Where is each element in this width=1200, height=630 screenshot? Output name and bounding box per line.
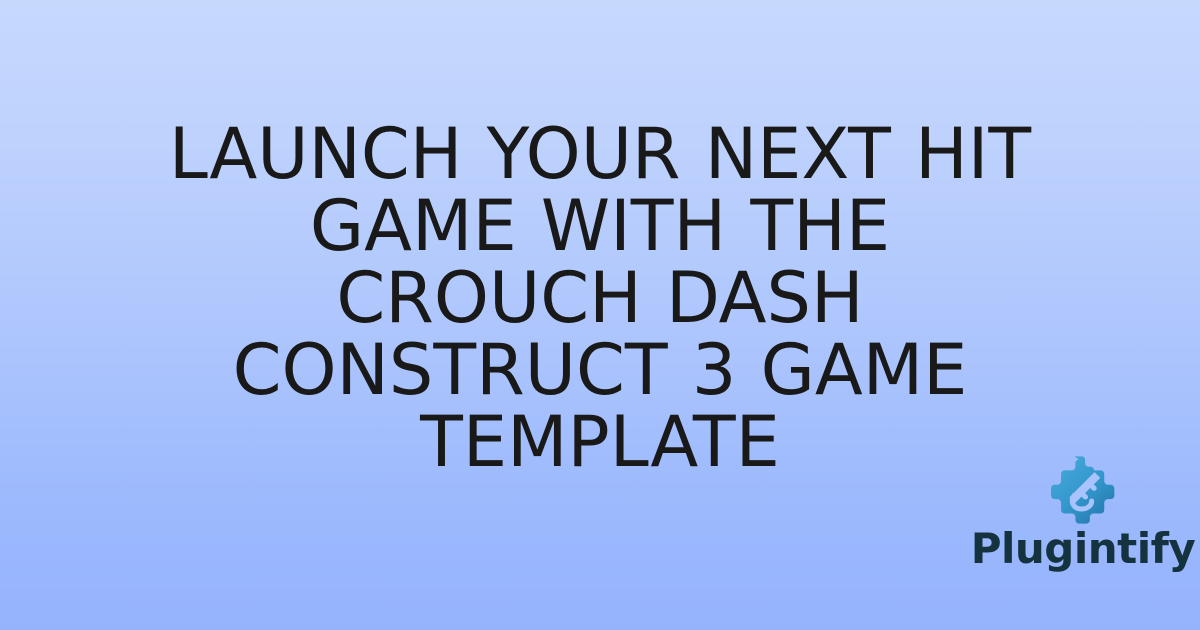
headline-container: LAUNCH YOUR NEXT HIT GAME WITH THE CROUC… [0, 118, 1200, 478]
headline-line-2: GAME WITH THE [100, 190, 1100, 262]
brand-logo-lockup: Plugintify [988, 452, 1178, 572]
gear-plug-icon [1047, 452, 1119, 524]
headline-line-1: LAUNCH YOUR NEXT HIT [100, 118, 1100, 190]
headline-line-4: CONSTRUCT 3 GAME [100, 334, 1100, 406]
headline-line-5: TEMPLATE [100, 406, 1100, 478]
page-title: LAUNCH YOUR NEXT HIT GAME WITH THE CROUC… [100, 118, 1100, 478]
og-banner: LAUNCH YOUR NEXT HIT GAME WITH THE CROUC… [0, 0, 1200, 630]
headline-line-3: CROUCH DASH [100, 262, 1100, 334]
brand-wordmark: Plugintify [971, 526, 1196, 572]
